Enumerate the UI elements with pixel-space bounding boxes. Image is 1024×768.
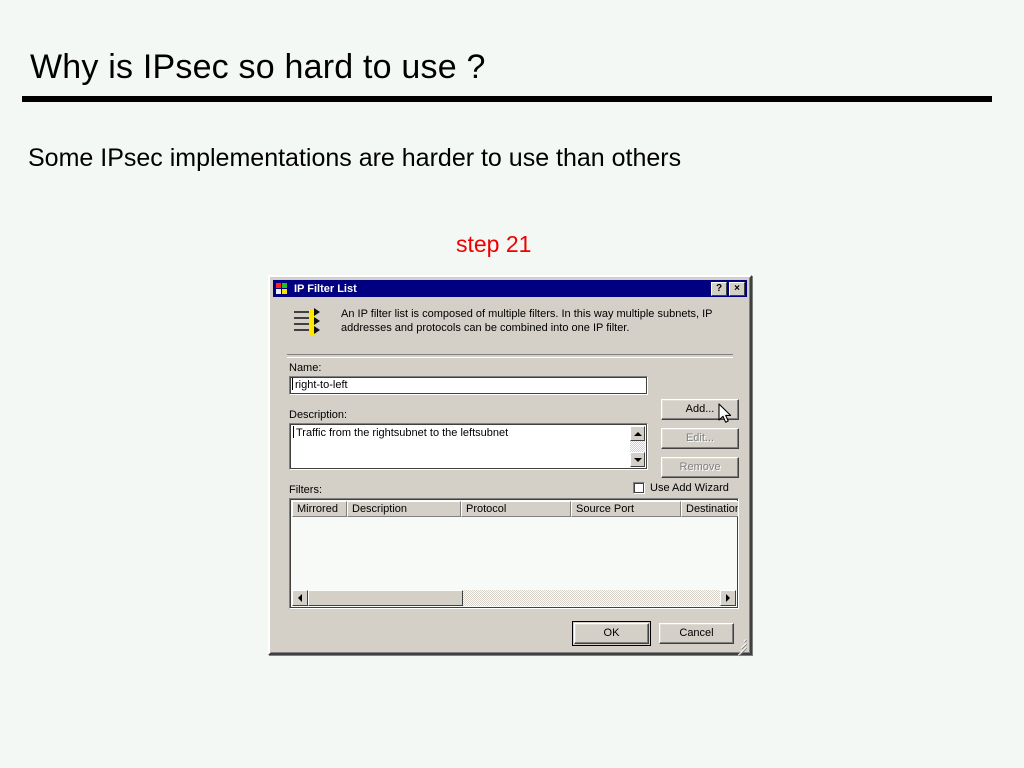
column-header-source-port[interactable]: Source Port [571,501,681,517]
use-add-wizard-label: Use Add Wizard [650,482,729,494]
scroll-right-icon[interactable] [720,590,736,606]
column-header-destination[interactable]: Destination [681,501,738,517]
filters-label: Filters: [289,484,322,496]
banner-description: An IP filter list is composed of multipl… [341,307,737,335]
step-label: step 21 [456,231,531,258]
scroll-up-icon[interactable] [630,426,645,441]
checkbox-box-icon[interactable] [633,482,645,494]
cancel-button[interactable]: Cancel [659,623,734,644]
column-header-description[interactable]: Description [347,501,461,517]
ok-button[interactable]: OK [574,623,649,644]
dialog-inner-frame: IP Filter List ? × An IP filter list is … [270,277,750,653]
slide-body-text: Some IPsec implementations are harder to… [28,144,681,173]
column-header-protocol[interactable]: Protocol [461,501,571,517]
edit-button[interactable]: Edit... [661,428,739,449]
name-label: Name: [289,362,321,374]
description-input[interactable]: Traffic from the rightsubnet to the left… [289,423,648,470]
name-input[interactable]: right-to-left [289,376,648,395]
close-icon[interactable]: × [729,282,745,296]
scroll-left-icon[interactable] [292,590,308,606]
dialog-titlebar[interactable]: IP Filter List ? × [273,280,747,297]
page-title: Why is IPsec so hard to use ? [30,48,486,87]
add-button[interactable]: Add... [661,399,739,420]
filter-arrows-icon [293,308,323,338]
hscrollbar-thumb[interactable] [308,590,463,606]
filters-header-row: Mirrored Description Protocol Source Por… [292,501,736,517]
use-add-wizard-checkbox[interactable]: Use Add Wizard [633,482,729,494]
description-scrollbar[interactable] [630,426,645,467]
scrollbar-track[interactable] [630,441,645,452]
dialog-banner: An IP filter list is composed of multipl… [273,299,747,353]
filters-horizontal-scrollbar[interactable] [292,590,736,606]
banner-separator [287,354,733,358]
remove-button[interactable]: Remove [661,457,739,478]
dialog-title: IP Filter List [294,283,709,295]
resize-grip[interactable] [734,637,746,649]
filters-list-body[interactable] [292,517,736,590]
ip-filter-list-dialog: IP Filter List ? × An IP filter list is … [268,275,752,655]
column-header-mirrored[interactable]: Mirrored [292,501,347,517]
scroll-down-icon[interactable] [630,452,645,467]
help-icon[interactable]: ? [711,282,727,296]
name-input-value: right-to-left [293,379,348,391]
description-input-value: Traffic from the rightsubnet to the left… [294,427,508,439]
ip-filter-list-icon [276,282,290,295]
description-label: Description: [289,409,347,421]
filters-listview[interactable]: Mirrored Description Protocol Source Por… [289,498,739,609]
title-divider [22,96,992,102]
